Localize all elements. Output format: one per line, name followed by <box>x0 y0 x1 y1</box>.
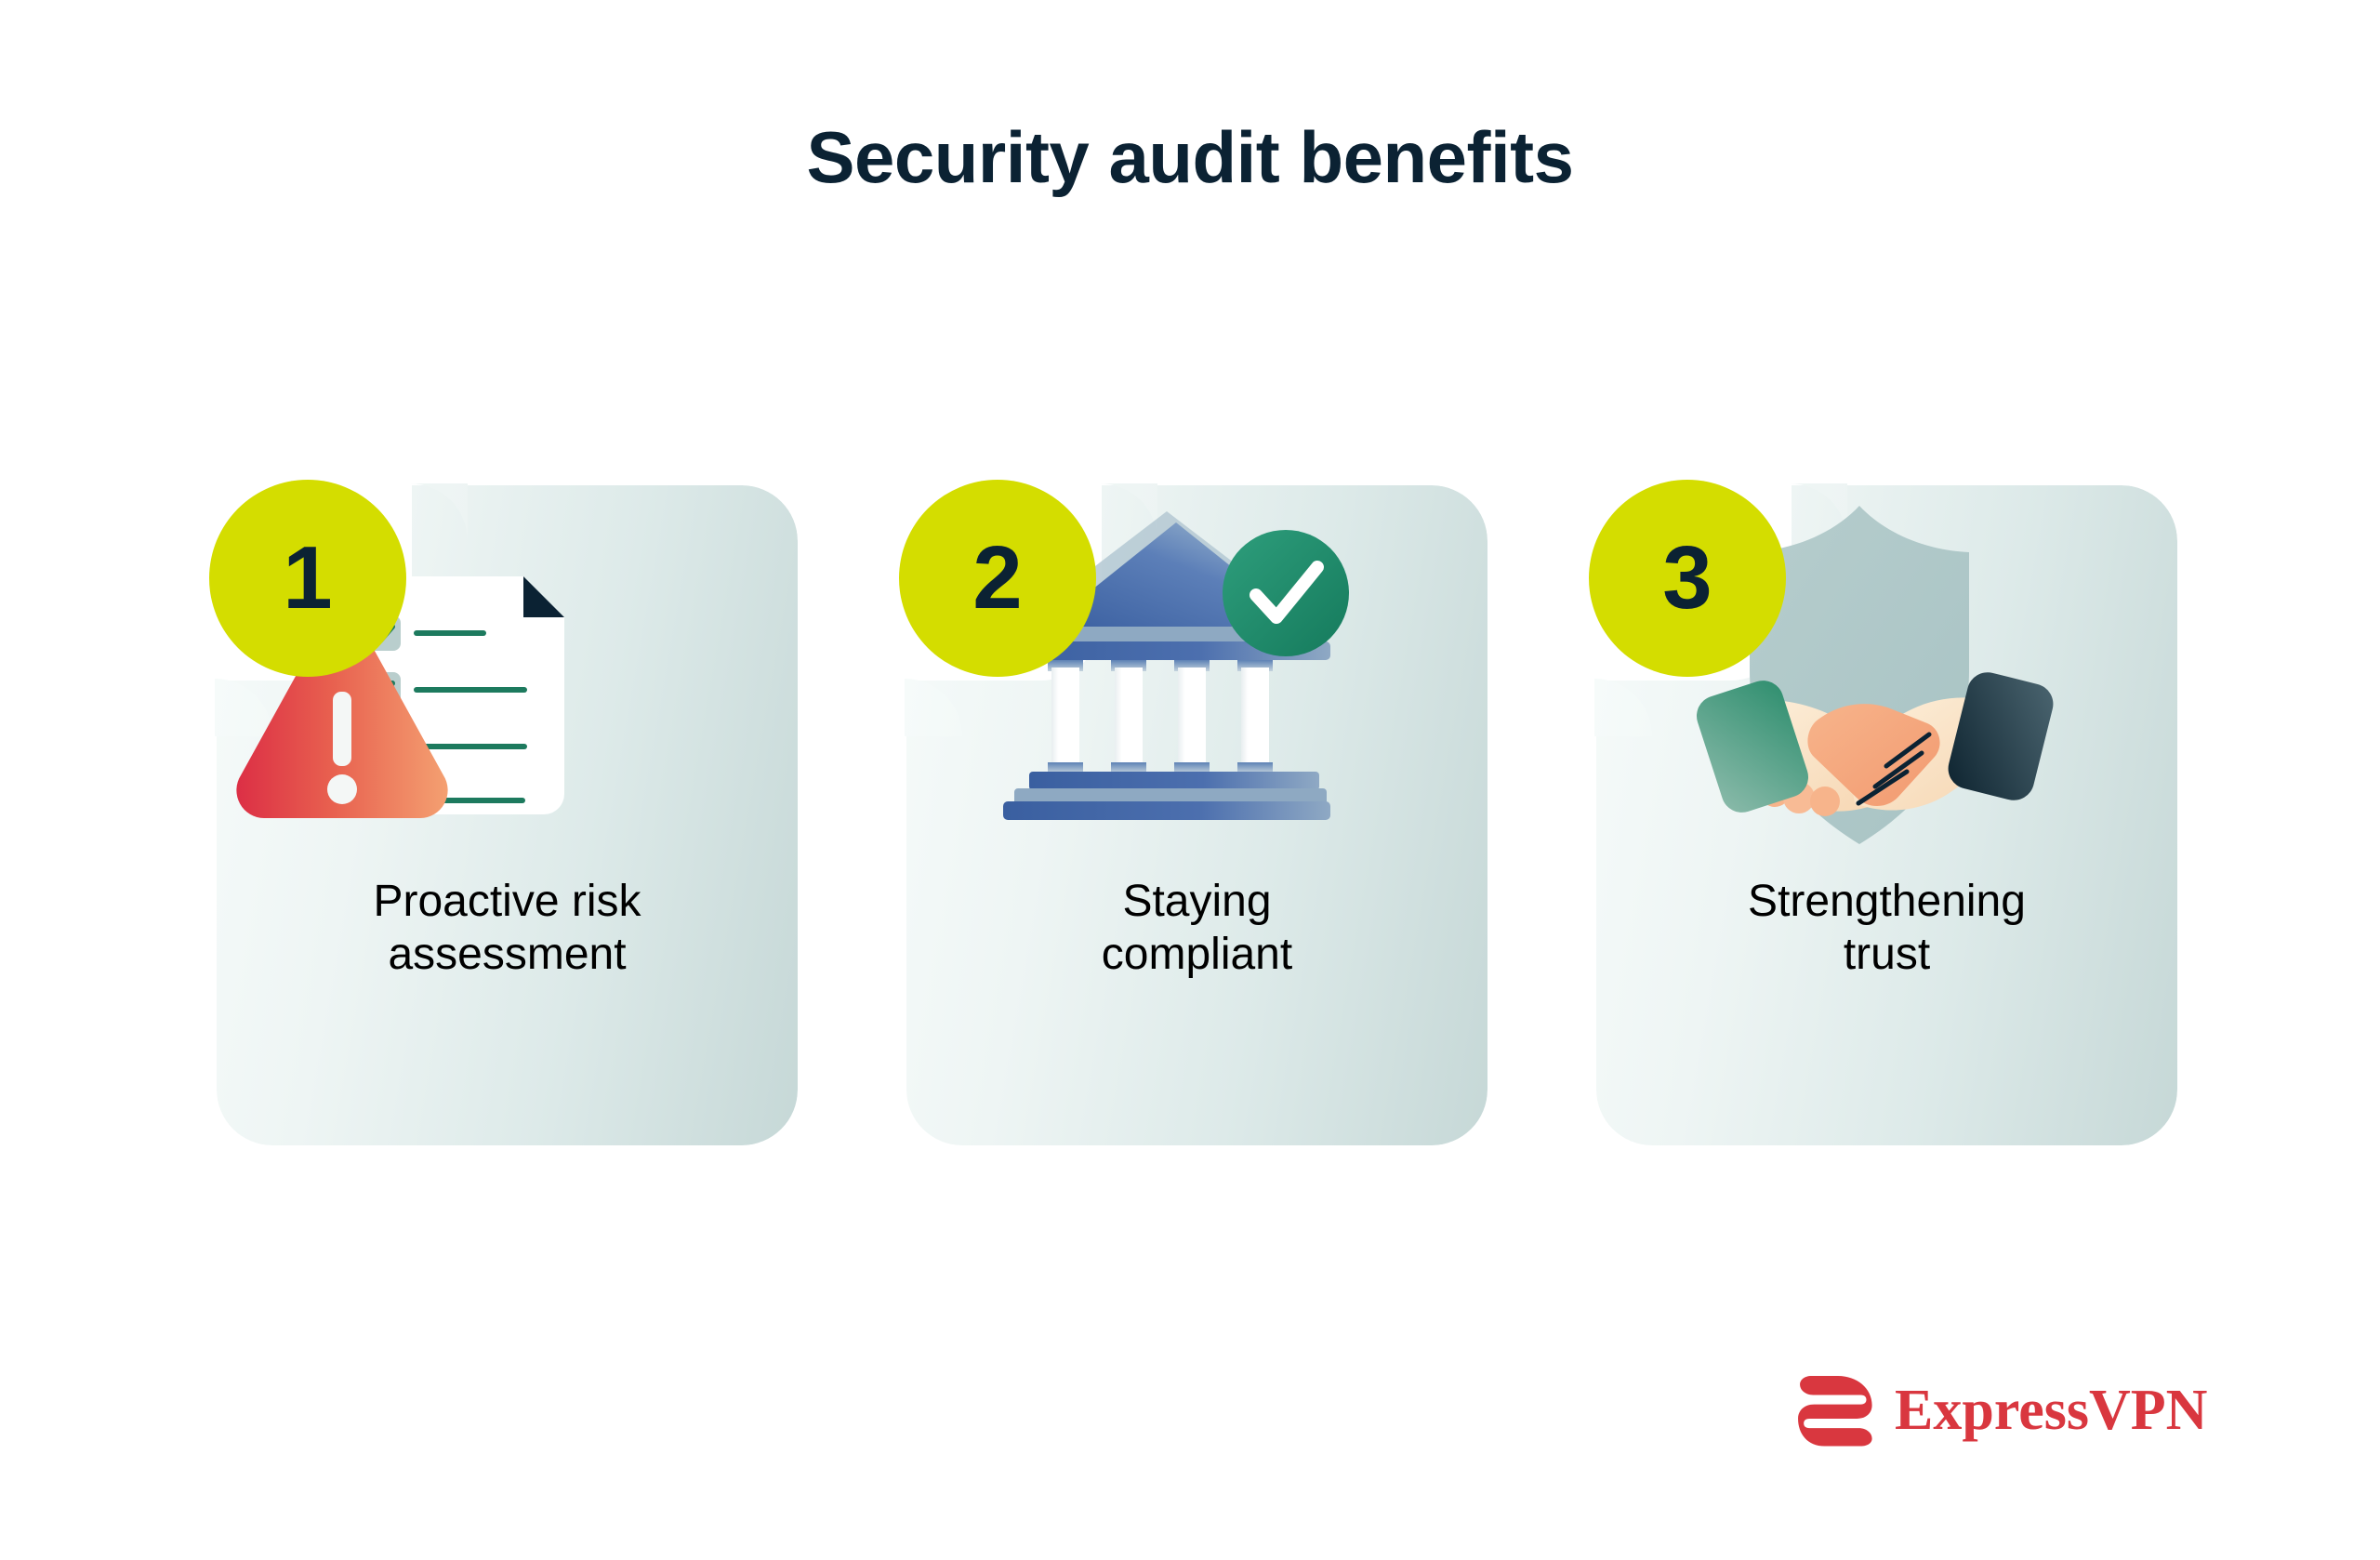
benefit-card-2: Staying compliant 2 <box>906 485 1487 1145</box>
expressvpn-logo[interactable]: ExpressVPN <box>1796 1374 2207 1447</box>
card-label-1: Proactive risk assessment <box>217 876 798 981</box>
card-number-2: 2 <box>972 534 1022 623</box>
infographic-canvas: Security audit benefits <box>0 0 2380 1560</box>
page-title: Security audit benefits <box>0 121 2380 193</box>
expressvpn-e-mark-icon <box>1796 1374 1874 1447</box>
benefit-card-3: Strengthening trust 3 <box>1596 485 2177 1145</box>
card-number-1: 1 <box>283 534 332 623</box>
card-label-3: Strengthening trust <box>1596 876 2177 981</box>
benefit-card-1: Proactive risk assessment 1 <box>217 485 798 1145</box>
card-label-2: Staying compliant <box>906 876 1487 981</box>
card-badge-3: 3 <box>1589 480 1786 677</box>
card-badge-2: 2 <box>899 480 1096 677</box>
card-number-3: 3 <box>1662 534 1712 623</box>
expressvpn-wordmark: ExpressVPN <box>1895 1382 2207 1439</box>
card-badge-1: 1 <box>209 480 406 677</box>
green-check-circle <box>1223 530 1349 656</box>
